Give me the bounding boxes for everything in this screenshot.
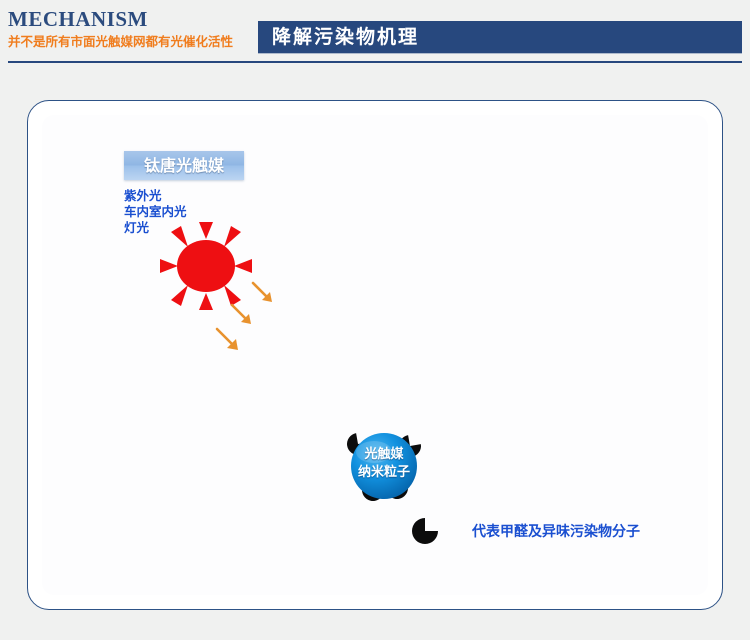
section-title-bar: 降解污染物机理 <box>258 21 742 53</box>
legend: 代表甲醛及异味污染物分子 <box>412 518 640 544</box>
header-divider <box>8 61 742 63</box>
page-title: MECHANISM <box>8 8 258 31</box>
sun-icon <box>160 222 252 310</box>
photocatalyst-nanoparticle: 光触媒 纳米粒子 <box>340 422 428 510</box>
light-source-item: 紫外光 <box>124 188 187 204</box>
page-subtitle: 并不是所有市面光触媒网都有光催化活性 <box>8 33 258 51</box>
catalyst-label-badge: 钛唐光触媒 <box>124 151 244 180</box>
catalyst-label-text: 钛唐光触媒 <box>124 151 244 180</box>
arrow-down-right-icon <box>251 281 275 305</box>
arrow-down-right-icon <box>215 327 241 353</box>
section-title-text: 降解污染物机理 <box>272 25 419 49</box>
page-header: MECHANISM 并不是所有市面光触媒网都有光催化活性 降解污染物机理 <box>0 0 750 63</box>
pollutant-molecule-icon <box>412 518 438 544</box>
header-left-block: MECHANISM 并不是所有市面光触媒网都有光催化活性 <box>8 8 258 51</box>
legend-label: 代表甲醛及异味污染物分子 <box>472 521 640 541</box>
light-source-item: 车内室内光 <box>124 204 187 220</box>
arrow-down-right-icon <box>230 303 254 327</box>
